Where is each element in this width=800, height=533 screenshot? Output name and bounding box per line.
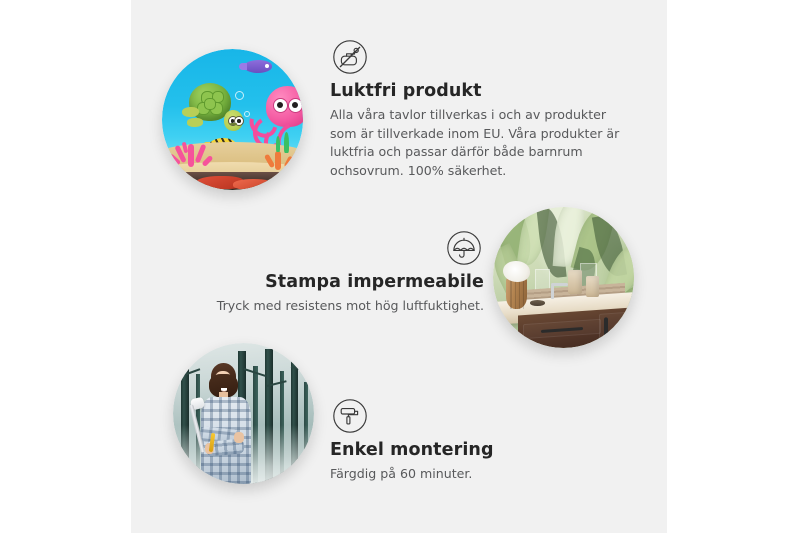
coral-art [170,125,212,167]
feature-description: Alla våra tavlor tillverkas i och av pro… [330,106,625,181]
promo-infographic: Luktfri produkt Alla våra tavlor tillver… [0,0,800,533]
bathroom-leaf-wallpaper-photo [493,207,634,348]
vase-art [506,278,527,309]
no-fragrance-icon [332,39,368,75]
paint-roller-icon [332,398,368,434]
content-panel: Luktfri produkt Alla våra tavlor tillver… [131,0,667,533]
umbrella-icon [446,230,482,266]
woman-art [190,363,272,484]
woman-with-roller-forest-photo [173,343,314,484]
underwater-cartoon-mural-photo [162,49,303,190]
feature-odourless: Luktfri produkt Alla våra tavlor tillver… [330,39,625,181]
flower-art [503,261,530,282]
feature-description: Färgdig på 60 minuter. [330,465,625,484]
feature-easy-mounting: Enkel montering Färgdig på 60 minuter. [330,398,625,484]
feature-description: Tryck med resistens mot hög luftfuktighe… [199,297,484,316]
feature-waterproof: Stampa impermeabile Tryck med resistens … [199,230,484,316]
feature-title: Luktfri produkt [330,81,625,102]
feature-title: Stampa impermeabile [199,272,484,293]
feature-title: Enkel montering [330,440,625,461]
